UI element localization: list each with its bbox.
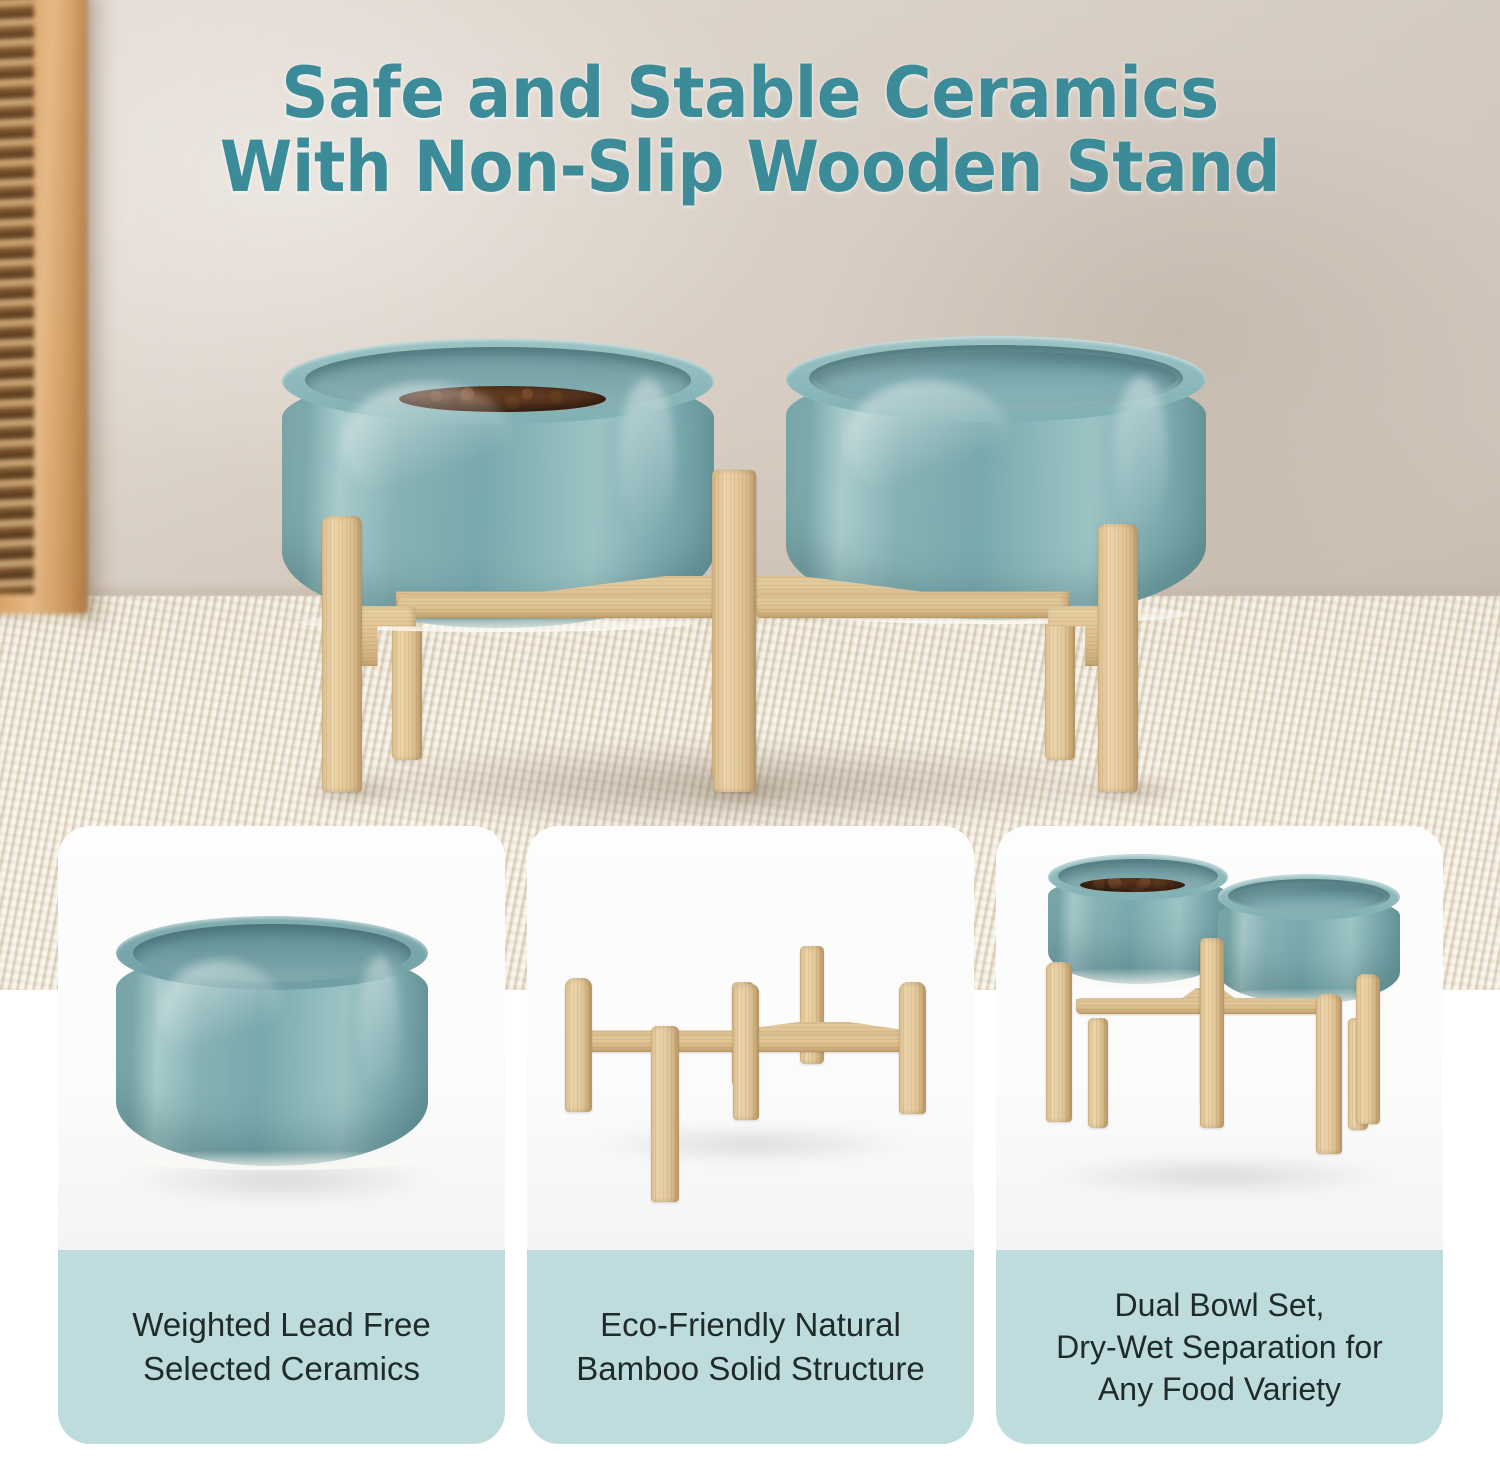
feature-card-ceramics[interactable]: Weighted Lead Free Selected Ceramics [58,826,505,1444]
dry-kibble [1080,878,1184,892]
single-ceramic-bowl [116,916,428,1166]
caption-line-1: Dual Bowl Set, [1056,1284,1383,1326]
card-photo-bamboo-stand [527,826,974,1250]
card-photo-dual-set [996,826,1443,1250]
feature-card-bamboo[interactable]: Eco-Friendly Natural Bamboo Solid Struct… [527,826,974,1444]
mini-leg-front-left [1046,962,1072,1122]
stand-leg-right [899,982,926,1114]
product-infographic: Safe and Stable Ceramics With Non-Slip W… [0,0,1500,1459]
water-surface [1233,883,1386,911]
caption-line-2: Selected Ceramics [132,1347,430,1391]
set-shadow [1044,1156,1394,1196]
mini-leg-back-left [1088,1018,1108,1128]
card-photo-single-bowl [58,826,505,1250]
stand-shadow [587,1126,917,1162]
card-caption-ceramics: Weighted Lead Free Selected Ceramics [58,1250,505,1444]
bowl-highlight-secondary [359,956,400,1096]
stand-leg-mid [733,984,759,1120]
stand-leg-left [565,978,592,1112]
caption-line-2: Bamboo Solid Structure [576,1347,925,1391]
card-caption-dual-set: Dual Bowl Set, Dry-Wet Separation for An… [996,1250,1443,1444]
bowl-highlight [160,960,285,1065]
mini-leg-front-mid [1200,938,1224,1128]
card-caption-bamboo: Eco-Friendly Natural Bamboo Solid Struct… [527,1250,974,1444]
mini-leg-front-right [1316,994,1342,1154]
feature-card-dual-set[interactable]: Dual Bowl Set, Dry-Wet Separation for An… [996,826,1443,1444]
feature-card-row: Weighted Lead Free Selected Ceramics [0,0,1500,1459]
mini-leg-right-rear [1356,974,1380,1124]
caption-line-3: Any Food Variety [1056,1368,1383,1410]
caption-line-2: Dry-Wet Separation for [1056,1326,1383,1368]
caption-line-1: Eco-Friendly Natural [576,1303,925,1347]
caption-line-1: Weighted Lead Free [132,1303,430,1347]
stand-leg-front [651,1026,679,1202]
